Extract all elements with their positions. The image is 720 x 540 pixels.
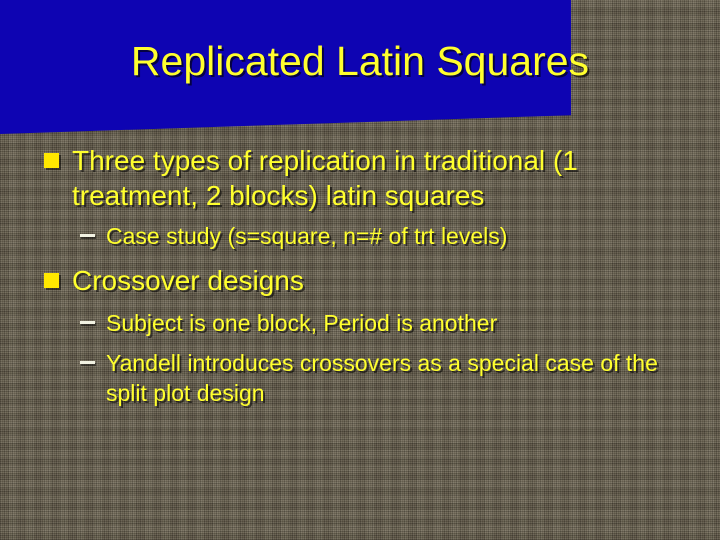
slide-title: Replicated Latin Squares bbox=[0, 36, 720, 86]
dash-bullet-icon bbox=[80, 361, 95, 364]
bullet-text: Crossover designs bbox=[72, 265, 304, 296]
bullet-text: Yandell introduces crossovers as a speci… bbox=[106, 350, 658, 406]
bullet-text: Three types of replication in traditiona… bbox=[72, 145, 578, 211]
bullet-item-level1[interactable]: Crossover designs bbox=[44, 263, 720, 298]
presentation-slide: Replicated Latin Squares Three types of … bbox=[0, 0, 720, 540]
slide-body: Three types of replication in traditiona… bbox=[0, 134, 720, 408]
bullet-item-level2[interactable]: Subject is one block, Period is another bbox=[80, 308, 720, 338]
dash-bullet-icon bbox=[80, 234, 95, 237]
square-bullet-icon bbox=[44, 273, 59, 288]
bullet-item-level2[interactable]: Case study (s=square, n=# of trt levels) bbox=[80, 221, 720, 251]
dash-bullet-icon bbox=[80, 321, 95, 324]
bullet-item-level1[interactable]: Three types of replication in traditiona… bbox=[44, 143, 720, 213]
square-bullet-icon bbox=[44, 153, 59, 168]
bullet-item-level2[interactable]: Yandell introduces crossovers as a speci… bbox=[80, 348, 720, 408]
bullet-text: Case study (s=square, n=# of trt levels) bbox=[106, 223, 507, 249]
bullet-text: Subject is one block, Period is another bbox=[106, 310, 497, 336]
